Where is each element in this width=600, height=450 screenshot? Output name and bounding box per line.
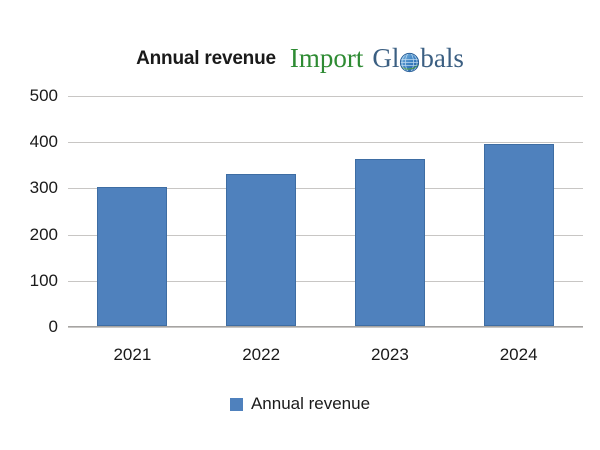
bar-2021[interactable] [97,187,167,326]
x-axis-labels: 2021202220232024 [68,345,583,369]
x-axis-tick-label-2024: 2024 [454,345,584,365]
gridline [68,327,583,328]
y-axis-labels: 0100200300400500 [0,96,58,327]
brand-word-import: Import [290,45,364,72]
x-axis-tick-label-2021: 2021 [67,345,197,365]
y-axis-tick-label: 300 [0,178,58,198]
x-axis-tick-label-2023: 2023 [325,345,455,365]
globe-icon [399,51,420,72]
x-axis-tick-label-2022: 2022 [196,345,326,365]
x-axis-line [68,326,583,327]
brand-logo[interactable]: Import Gl [290,45,464,72]
y-axis-tick-label: 0 [0,317,58,337]
page-title: Annual revenue [136,48,276,70]
y-axis-tick-label: 100 [0,271,58,291]
y-axis-tick-label: 400 [0,132,58,152]
brand-word-bals: bals [420,45,464,72]
bar-2023[interactable] [355,159,425,326]
chart-header: Annual revenue Import Gl [0,42,600,76]
chart-container: Annual revenue Import Gl [0,0,600,450]
brand-word-gl: Gl [372,45,399,72]
legend-swatch-annual-revenue [230,398,243,411]
y-axis-tick-label: 500 [0,86,58,106]
bar-2022[interactable] [226,174,296,326]
chart-legend[interactable]: Annual revenue [0,394,600,414]
plot-area [68,96,583,327]
bars-layer [68,96,583,327]
y-axis-tick-label: 200 [0,225,58,245]
legend-label-annual-revenue: Annual revenue [251,394,370,414]
bar-2024[interactable] [484,144,554,326]
